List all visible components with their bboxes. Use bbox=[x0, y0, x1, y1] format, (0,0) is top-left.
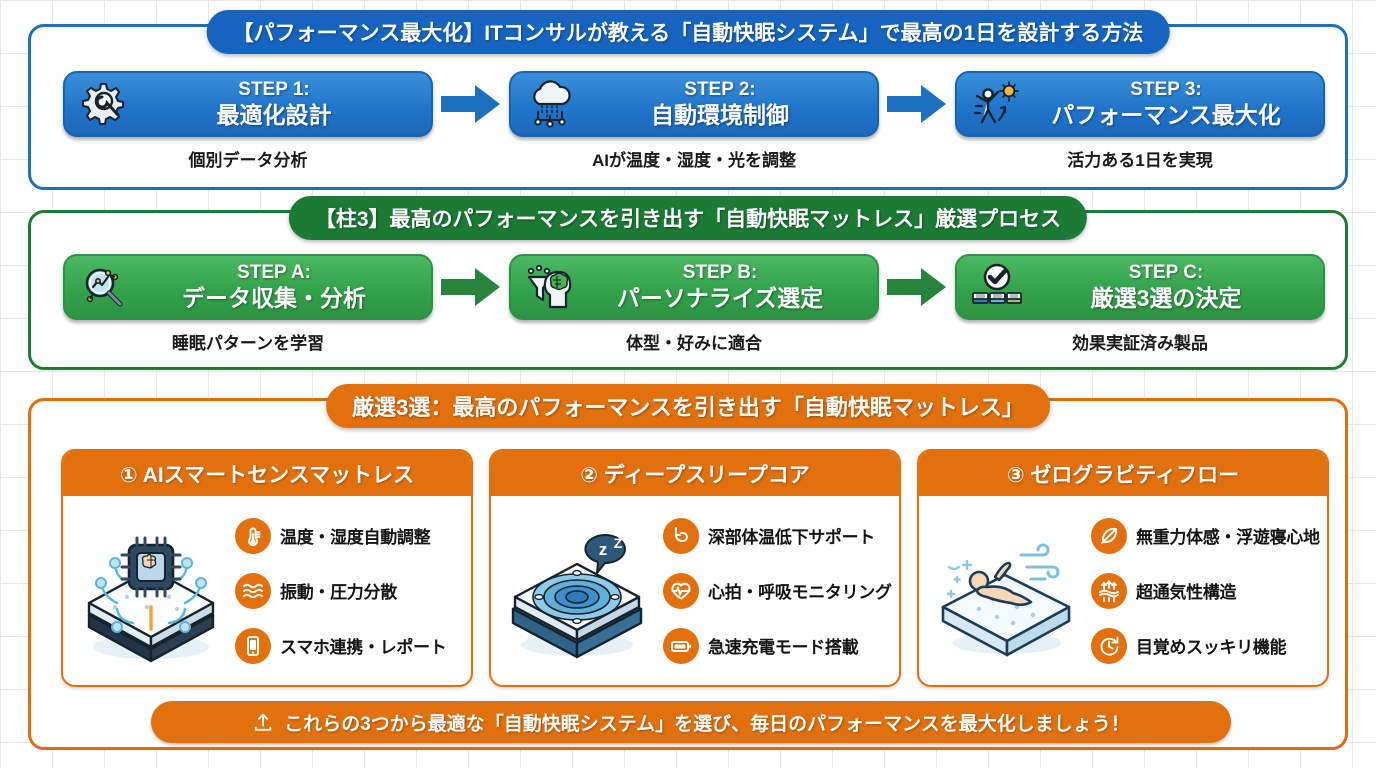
person-sun-icon bbox=[967, 76, 1025, 132]
arrow-b bbox=[879, 254, 955, 320]
product-card-2-title: ② ディープスリープコア bbox=[491, 451, 899, 496]
infographic-canvas: 【パフォーマンス最大化】ITコンサルが教える「自動快眠システム」で最高の1日を設… bbox=[0, 0, 1376, 768]
ai-chip-mattress-illustration bbox=[67, 511, 235, 671]
feature-label: 目覚めスッキリ機能 bbox=[1136, 633, 1286, 658]
gear-wrench-icon bbox=[75, 76, 133, 132]
product-card-3-features: 無重力体感・浮遊寝心地 bbox=[1091, 500, 1320, 681]
battery-icon bbox=[663, 628, 699, 664]
feather-icon bbox=[1091, 518, 1127, 554]
product-card-3-body: 無重力体感・浮遊寝心地 bbox=[919, 496, 1327, 685]
step-column-1[interactable]: STEP 1: 最適化設計 個別データ分析 bbox=[63, 71, 433, 171]
section-selection-process: 【柱3】最高のパフォーマンスを引き出す「自動快眠マットレス」厳選プロセス bbox=[28, 210, 1348, 370]
product-cards-row: ① AIスマートセンスマットレス bbox=[61, 449, 1329, 687]
feature-label: 振動・圧力分散 bbox=[280, 578, 397, 603]
feature-label: 深部体温低下サポート bbox=[708, 523, 875, 548]
feature-item[interactable]: 急速充電モード搭載 bbox=[663, 628, 892, 664]
product-card-1-body: 温度・湿度自動調整 振動・圧力分散 bbox=[63, 496, 471, 685]
step-column-3[interactable]: STEP 3: パフォーマンス最大化 活力ある1日を実現 bbox=[955, 71, 1325, 171]
step-chip-b[interactable]: STEP B: パーソナライズ選定 bbox=[509, 254, 879, 320]
smartphone-icon bbox=[235, 628, 271, 664]
product-card-2[interactable]: ② ディープスリープコア bbox=[489, 449, 901, 687]
step-row-blue: STEP 1: 最適化設計 個別データ分析 bbox=[63, 71, 1325, 171]
heartbeat-icon bbox=[663, 573, 699, 609]
feature-label: 温度・湿度自動調整 bbox=[280, 523, 430, 548]
upload-icon bbox=[252, 711, 274, 733]
step-text-2: STEP 2: 自動環境制御 bbox=[579, 79, 867, 129]
feature-item[interactable]: 目覚めスッキリ機能 bbox=[1091, 628, 1320, 664]
feature-label: スマホ連携・レポート bbox=[280, 633, 447, 658]
feature-item[interactable]: スマホ連携・レポート bbox=[235, 628, 463, 664]
funnel-brain-icon bbox=[521, 259, 579, 315]
section-header-orange: 厳選3選：最高のパフォーマンスを引き出す「自動快眠マットレス」 bbox=[326, 384, 1050, 428]
airflow-icon bbox=[1091, 573, 1127, 609]
product-card-3[interactable]: ③ ゼログラビティフロー bbox=[917, 449, 1329, 687]
step-chip-2[interactable]: STEP 2: 自動環境制御 bbox=[509, 71, 879, 137]
feature-label: 心拍・呼吸モニタリング bbox=[708, 578, 892, 603]
magnifier-chart-icon bbox=[75, 259, 133, 315]
step-caption-c: 効果実証済み製品 bbox=[1072, 329, 1208, 354]
step-text-b: STEP B: パーソナライズ選定 bbox=[579, 262, 867, 312]
step-text-c: STEP C: 厳選3選の決定 bbox=[1025, 262, 1313, 312]
arrow-1 bbox=[433, 71, 509, 137]
cta-text: これらの3つから最適な「自動快眠システム」を選び、毎日のパフォーマンスを最大化し… bbox=[284, 709, 1130, 736]
feature-item[interactable]: 無重力体感・浮遊寝心地 bbox=[1091, 518, 1320, 554]
step-chip-3[interactable]: STEP 3: パフォーマンス最大化 bbox=[955, 71, 1325, 137]
section-performance-system: 【パフォーマンス最大化】ITコンサルが教える「自動快眠システム」で最高の1日を設… bbox=[28, 24, 1348, 190]
check-mattresses-icon bbox=[967, 259, 1025, 315]
product-card-2-features: 深部体温低下サポート 心拍・呼吸モニタリング bbox=[663, 500, 892, 681]
step-text-1: STEP 1: 最適化設計 bbox=[133, 79, 421, 129]
feature-label: 急速充電モード搭載 bbox=[708, 633, 858, 658]
feature-label: 無重力体感・浮遊寝心地 bbox=[1136, 523, 1320, 548]
step-caption-3: 活力ある1日を実現 bbox=[1067, 146, 1212, 171]
step-caption-2: AIが温度・湿度・光を調整 bbox=[592, 146, 796, 171]
arrow-a bbox=[433, 254, 509, 320]
section-header-green: 【柱3】最高のパフォーマンスを引き出す「自動快眠マットレス」厳選プロセス bbox=[289, 196, 1087, 240]
step-row-green: STEP A: データ収集・分析 睡眠パターンを学習 bbox=[63, 254, 1325, 354]
arrow-2 bbox=[879, 71, 955, 137]
step-text-a: STEP A: データ収集・分析 bbox=[133, 262, 421, 312]
product-card-1-features: 温度・湿度自動調整 振動・圧力分散 bbox=[235, 500, 463, 681]
cta-banner[interactable]: これらの3つから最適な「自動快眠システム」を選び、毎日のパフォーマンスを最大化し… bbox=[151, 701, 1231, 743]
muscle-arm-icon bbox=[663, 518, 699, 554]
step-column-b[interactable]: STEP B: パーソナライズ選定 体型・好みに適合 bbox=[509, 254, 879, 354]
cloud-iot-icon bbox=[521, 76, 579, 132]
floating-person-mattress-illustration bbox=[923, 511, 1091, 671]
feature-item[interactable]: 温度・湿度自動調整 bbox=[235, 518, 463, 554]
feature-item[interactable]: 超通気性構造 bbox=[1091, 573, 1320, 609]
step-text-3: STEP 3: パフォーマンス最大化 bbox=[1025, 79, 1313, 129]
step-chip-a[interactable]: STEP A: データ収集・分析 bbox=[63, 254, 433, 320]
step-column-c[interactable]: STEP C: 厳選3選の決定 効果実証済み製品 bbox=[955, 254, 1325, 354]
product-card-2-body: z Z 深 bbox=[491, 496, 899, 685]
step-caption-1: 個別データ分析 bbox=[189, 146, 308, 171]
step-caption-a: 睡眠パターンを学習 bbox=[172, 329, 324, 354]
step-caption-b: 体型・好みに適合 bbox=[626, 329, 762, 354]
section-header-blue: 【パフォーマンス最大化】ITコンサルが教える「自動快眠システム」で最高の1日を設… bbox=[207, 10, 1170, 54]
feature-item[interactable]: 深部体温低下サポート bbox=[663, 518, 892, 554]
deep-sleep-core-mattress-illustration: z Z bbox=[495, 511, 663, 671]
product-card-1[interactable]: ① AIスマートセンスマットレス bbox=[61, 449, 473, 687]
section-top3-products: 厳選3選：最高のパフォーマンスを引き出す「自動快眠マットレス」 ① AIスマート… bbox=[28, 398, 1348, 750]
svg-text:z: z bbox=[599, 540, 608, 559]
step-column-a[interactable]: STEP A: データ収集・分析 睡眠パターンを学習 bbox=[63, 254, 433, 354]
feature-item[interactable]: 心拍・呼吸モニタリング bbox=[663, 573, 892, 609]
thermometer-icon bbox=[235, 518, 271, 554]
feature-label: 超通気性構造 bbox=[1136, 578, 1236, 603]
feature-item[interactable]: 振動・圧力分散 bbox=[235, 573, 463, 609]
product-card-1-title: ① AIスマートセンスマットレス bbox=[63, 451, 471, 496]
waves-icon bbox=[235, 573, 271, 609]
step-column-2[interactable]: STEP 2: 自動環境制御 AIが温度・湿度・光を調整 bbox=[509, 71, 879, 171]
step-chip-1[interactable]: STEP 1: 最適化設計 bbox=[63, 71, 433, 137]
clock-refresh-icon bbox=[1091, 628, 1127, 664]
product-card-3-title: ③ ゼログラビティフロー bbox=[919, 451, 1327, 496]
svg-text:Z: Z bbox=[614, 535, 623, 551]
step-chip-c[interactable]: STEP C: 厳選3選の決定 bbox=[955, 254, 1325, 320]
